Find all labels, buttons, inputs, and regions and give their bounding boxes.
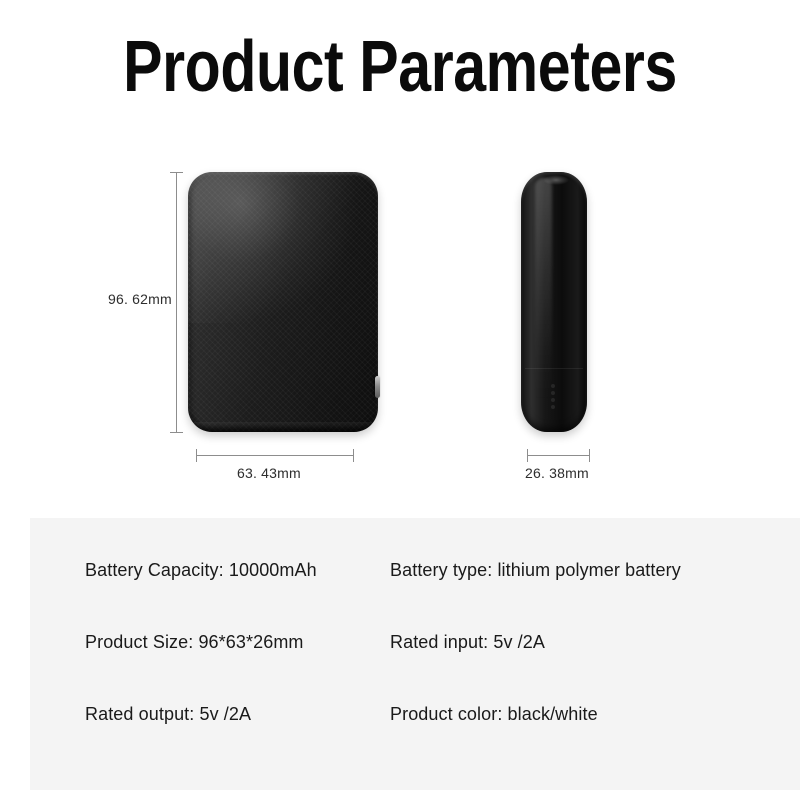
specifications-panel: Battery Capacity: 10000mAh Battery type:… bbox=[30, 518, 800, 790]
led-indicator-group bbox=[551, 384, 555, 409]
product-front-view bbox=[188, 172, 378, 432]
front-bottom-lip bbox=[194, 422, 372, 432]
depth-dimension-label: 26. 38mm bbox=[525, 465, 589, 481]
depth-dimension-cap-left bbox=[527, 449, 528, 462]
spec-product-color: Product color: black/white bbox=[390, 702, 785, 726]
product-illustration-area: 96. 62mm 63. 43mm 26. 38mm bbox=[0, 140, 800, 518]
led-dot bbox=[551, 398, 555, 402]
height-dimension-line bbox=[176, 172, 177, 432]
led-dot bbox=[551, 405, 555, 409]
width-dimension-label: 63. 43mm bbox=[237, 465, 301, 481]
page-title: Product Parameters bbox=[72, 24, 728, 110]
width-dimension-cap-left bbox=[196, 449, 197, 462]
height-dimension-cap-bottom bbox=[170, 432, 183, 433]
spec-rated-input: Rated input: 5v /2A bbox=[390, 630, 785, 654]
depth-dimension-cap-right bbox=[589, 449, 590, 462]
spec-product-size: Product Size: 96*63*26mm bbox=[85, 630, 390, 654]
front-texture-pattern bbox=[188, 172, 378, 432]
height-dimension-cap-top bbox=[170, 172, 183, 173]
product-side-view bbox=[521, 172, 587, 432]
spec-rated-output: Rated output: 5v /2A bbox=[85, 702, 390, 726]
product-parameters-page: Product Parameters 96. 62mm bbox=[0, 0, 800, 800]
side-seam-line bbox=[525, 368, 583, 369]
specifications-grid: Battery Capacity: 10000mAh Battery type:… bbox=[85, 558, 785, 726]
led-dot bbox=[551, 391, 555, 395]
spec-battery-type: Battery type: lithium polymer battery bbox=[390, 558, 785, 582]
width-dimension-cap-right bbox=[353, 449, 354, 462]
side-top-highlight bbox=[543, 175, 569, 185]
spec-battery-capacity: Battery Capacity: 10000mAh bbox=[85, 558, 390, 582]
width-dimension-line bbox=[196, 455, 354, 456]
depth-dimension-line bbox=[527, 455, 590, 456]
led-dot bbox=[551, 384, 555, 388]
height-dimension-label: 96. 62mm bbox=[108, 291, 172, 307]
